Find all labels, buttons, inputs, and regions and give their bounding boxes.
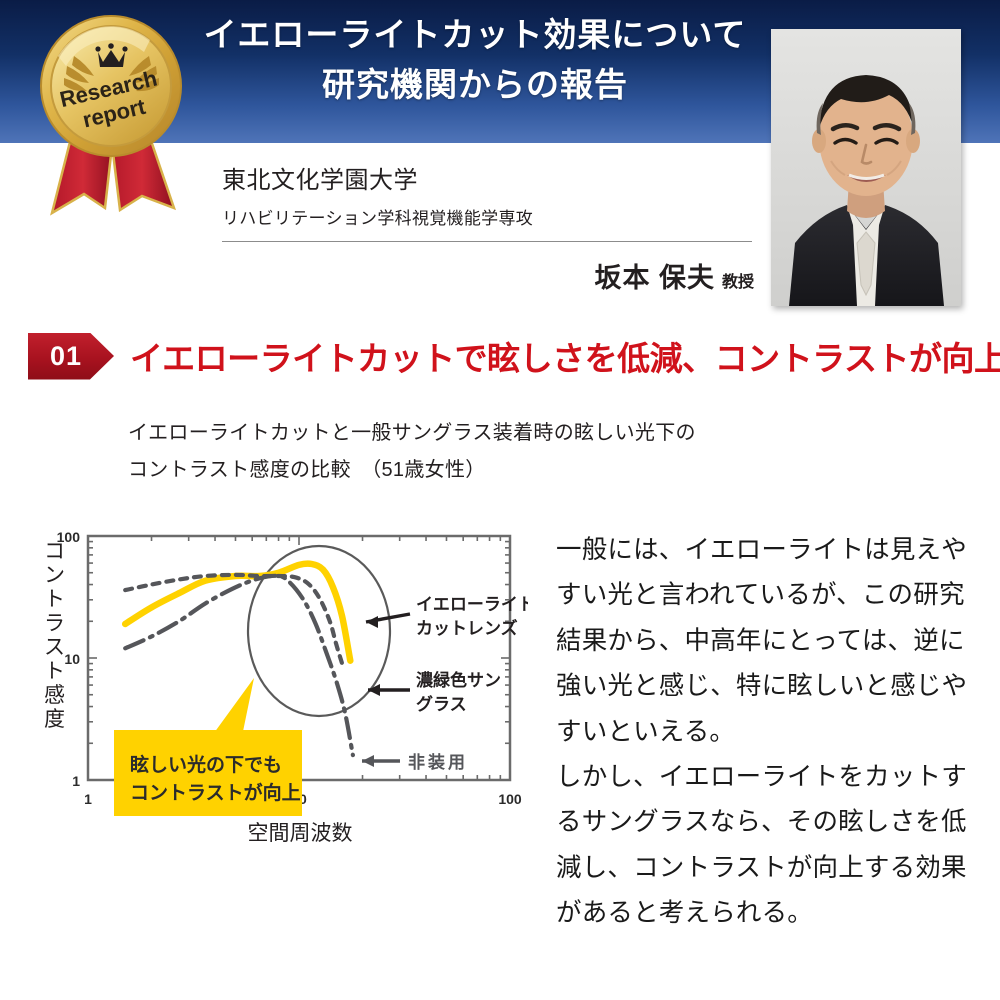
chart-x-axis-label: 空間周波数 (248, 822, 353, 845)
affiliation-divider (222, 241, 752, 242)
contrast-sensitivity-chart: 100 10 1 1 10 100 眩しい光の下でも コントラストが向上 イエロ… (18, 518, 528, 848)
callout-line1: 眩しい光の下でも (130, 753, 282, 776)
annotation-green-sunglasses-label-1: 濃緑色サン (416, 670, 501, 690)
section-title: イエローライトカットで眩しさを低減、コントラストが向上 (130, 332, 1000, 380)
university-name: 東北文化学園大学 (222, 160, 762, 195)
annotation-green-sunglasses-label-2: グラス (416, 694, 467, 714)
body-paragraph-2: しかし、イエローライトをカットするサングラスなら、その眩しさを低減し、コントラス… (556, 755, 976, 937)
research-report-page: イエローライトカット効果について 研究機関からの報告 (0, 0, 1000, 1000)
x-tick-100: 100 (498, 791, 522, 807)
lead-line-1: イエローライトカットと一般サングラス装着時の眩しい光下の (128, 415, 828, 452)
header-title-line2: 研究機関からの報告 (185, 64, 765, 106)
callout-line2: コントラストが向上 (130, 781, 301, 804)
lead-line-2: コントラスト感度の比較 （51歳女性） (128, 452, 828, 489)
research-report-medal-icon: Research report (22, 8, 202, 218)
chart-y-axis-label: コントラスト感度 (44, 540, 65, 731)
annotation-yellow-lens-label-2: カットレンズ (416, 618, 518, 638)
affiliation-block: 東北文化学園大学 リハビリテーション学科視覚機能学専攻 坂本 保夫 教授 (222, 160, 762, 295)
annotation-no-lens-label: 非装用 (408, 752, 468, 772)
x-tick-1: 1 (84, 791, 92, 807)
section-number-badge: 01 (28, 333, 114, 380)
department-name: リハビリテーション学科視覚機能学専攻 (222, 204, 762, 229)
person-name: 坂本 保夫 (594, 256, 715, 295)
header-title: イエローライトカット効果について 研究機関からの報告 (185, 14, 765, 106)
section-heading: 01 イエローライトカットで眩しさを低減、コントラストが向上 (28, 332, 1000, 380)
person-row: 坂本 保夫 教授 (222, 256, 762, 295)
header-title-line1: イエローライトカット効果について (185, 14, 765, 56)
y-tick-10: 10 (64, 651, 80, 667)
person-title: 教授 (722, 268, 754, 292)
body-text-block: 一般には、イエローライトは見えやすい光と言われているが、この研究結果から、中高年… (556, 528, 976, 936)
body-paragraph-1: 一般には、イエローライトは見えやすい光と言われているが、この研究結果から、中高年… (556, 528, 976, 755)
professor-photo (771, 29, 961, 306)
y-tick-1: 1 (72, 773, 80, 789)
annotation-yellow-lens-label-1: イエローライト (416, 595, 528, 614)
lead-text: イエローライトカットと一般サングラス装着時の眩しい光下の コントラスト感度の比較… (128, 415, 828, 489)
section-number: 01 (50, 341, 82, 372)
